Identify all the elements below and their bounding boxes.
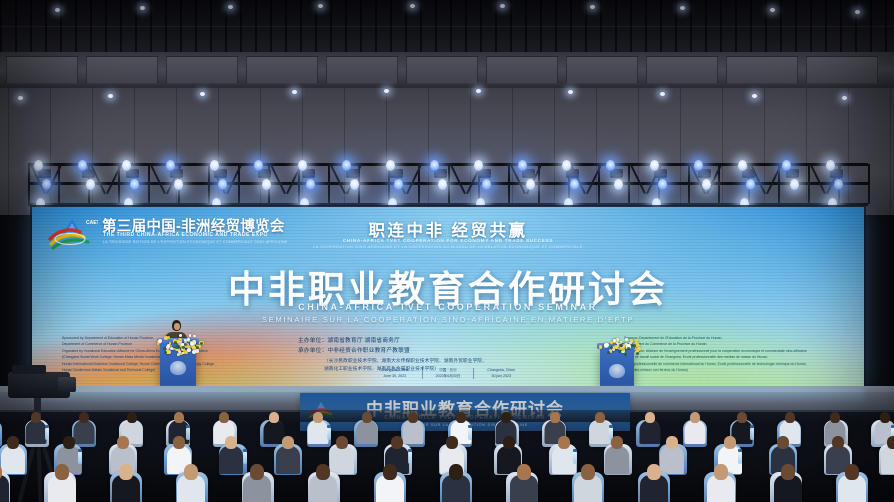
person-torso <box>357 420 378 444</box>
flower-leaf <box>619 344 622 347</box>
lighting-truss <box>28 160 868 208</box>
person-head <box>7 436 19 449</box>
audience-person <box>111 436 135 464</box>
person-head <box>558 436 570 449</box>
audience-person <box>1 436 25 464</box>
ceiling-downlight <box>140 6 145 10</box>
truss-lamp <box>298 160 307 171</box>
audience-person <box>330 436 354 464</box>
event-slogan-fr: LA COOPERATION SINO-AFRICAINE ET LA COOP… <box>32 245 864 249</box>
truss-lamp <box>34 160 43 171</box>
truss-lamp <box>658 179 667 190</box>
truss-post <box>508 164 510 204</box>
truss-diagonal <box>810 165 825 194</box>
person-head <box>777 436 789 449</box>
audience-person <box>881 436 894 464</box>
truss-post <box>448 164 450 204</box>
date-value: 2023年6月30日 <box>436 373 461 379</box>
truss-lamp <box>606 160 615 171</box>
water-bottle <box>738 452 742 464</box>
person-head <box>63 436 75 449</box>
bottle-cap <box>327 425 331 428</box>
person-head <box>362 412 372 423</box>
podium-left-emblem-icon <box>170 361 186 375</box>
person-head <box>517 464 531 480</box>
person-head <box>456 412 466 423</box>
truss-lamp <box>130 179 139 190</box>
audience-person <box>779 412 800 436</box>
person-head <box>724 436 736 449</box>
audience-person <box>640 412 661 436</box>
audience-person <box>826 436 850 464</box>
person-head <box>449 464 463 480</box>
bottle-cap <box>45 425 49 428</box>
ceiling-downlight <box>318 4 323 8</box>
audience-person <box>590 412 611 436</box>
truss-lamp <box>430 160 439 171</box>
person-head <box>174 412 184 423</box>
ceiling-downlight <box>384 89 389 93</box>
person-head <box>781 464 795 480</box>
bottle-cap <box>609 425 613 428</box>
person-head <box>714 464 728 480</box>
flower-leaf <box>200 342 203 345</box>
flower-petal <box>157 343 159 345</box>
person-torso <box>640 420 661 444</box>
truss-lamp <box>526 179 535 190</box>
audience-person <box>213 412 234 436</box>
person-head <box>119 464 133 480</box>
host-line: 主办单位：湖南省教育厅 湖南省商务厅 <box>298 337 598 347</box>
person-torso <box>881 446 894 474</box>
audience-person <box>707 464 735 496</box>
truss-lamp <box>702 179 711 190</box>
flower-leaf <box>627 347 630 350</box>
flower-petal <box>604 343 608 347</box>
person-head <box>127 412 137 423</box>
speaker-face <box>174 323 180 330</box>
person-head <box>79 412 89 423</box>
flower-petal <box>625 338 628 341</box>
ceiling-downlight <box>855 10 860 14</box>
person-head <box>313 412 323 423</box>
person-head <box>690 412 700 423</box>
flower-petal <box>158 339 162 343</box>
truss-lamp <box>78 160 87 171</box>
date-value: June 30, 2023 <box>381 373 409 379</box>
audience-person <box>731 412 752 436</box>
ceiling-downlight <box>292 90 297 94</box>
person-head <box>887 436 894 449</box>
audience-area <box>0 392 894 502</box>
flower-petal <box>599 345 602 348</box>
audience-person <box>497 436 521 464</box>
truss-post <box>868 164 870 204</box>
truss-lamp <box>394 179 403 190</box>
ceiling-downlight <box>680 6 685 10</box>
flower-petal <box>170 347 173 350</box>
audience-person <box>385 436 409 464</box>
audience-person <box>640 464 668 496</box>
person-head <box>845 464 859 480</box>
ceiling-downlight <box>228 5 233 9</box>
water-bottle <box>468 428 472 440</box>
bottle-cap <box>78 449 82 452</box>
audience-person <box>74 412 95 436</box>
audience-person <box>660 436 684 464</box>
bottle-cap <box>738 449 742 452</box>
truss-lamp <box>694 160 703 171</box>
truss-lamp <box>834 179 843 190</box>
audience-person <box>26 412 47 436</box>
water-bottle <box>408 452 412 464</box>
organizer-line: 承办单位：中非经贸合作职业教育产教联盟 <box>298 347 598 357</box>
conference-hall-scene: CAETE 第三届中国-非洲经贸博览会 THE THIRD CHINA-AFRI… <box>0 0 894 502</box>
truss-lamp <box>562 160 571 171</box>
truss-lamp <box>342 160 351 171</box>
person-head <box>880 412 890 423</box>
truss-lamp <box>210 160 219 171</box>
person-torso <box>307 420 328 444</box>
water-bottle <box>243 452 247 464</box>
audience-person <box>496 412 517 436</box>
bottle-cap <box>408 449 412 452</box>
truss-lamp <box>86 179 95 190</box>
date-cell-en: Changsha, China June 30, 2023 <box>381 367 409 379</box>
audience-person <box>243 464 271 496</box>
podium-right-flowers <box>596 336 640 354</box>
person-head <box>595 412 605 423</box>
audience-person <box>605 436 629 464</box>
person-torso <box>685 420 706 444</box>
ceiling-downlight <box>590 5 595 9</box>
audience-person <box>309 464 337 496</box>
person-head <box>391 436 403 449</box>
person-head <box>503 436 515 449</box>
truss-lamp <box>614 179 623 190</box>
flower-petal <box>164 336 168 340</box>
date-divider <box>422 368 423 379</box>
truss-lamp <box>826 160 835 171</box>
ceiling-downlight <box>108 94 113 98</box>
truss-lamp <box>218 179 227 190</box>
truss-lamp <box>438 179 447 190</box>
bottle-cap <box>750 425 754 428</box>
flower-petal <box>182 352 184 354</box>
truss-lamp <box>474 160 483 171</box>
person-torso <box>26 420 47 444</box>
truss-lamp <box>782 160 791 171</box>
person-head <box>250 464 264 480</box>
truss-lamp <box>482 179 491 190</box>
truss-lamp <box>262 179 271 190</box>
person-head <box>55 464 69 480</box>
bottle-cap <box>186 425 190 428</box>
person-head <box>173 436 185 449</box>
audience-person <box>774 464 802 496</box>
ceiling-downlight <box>18 96 23 100</box>
ceiling-downlight <box>568 90 573 94</box>
event-slogan-en: CHINA-AFRICA TVET COOPERATION FOR ECONOM… <box>32 238 864 243</box>
audience-person <box>167 436 191 464</box>
audience-person <box>838 464 866 496</box>
seminar-title-fr: SEMINAIRE SUR LA COOPERATION SINO-AFRICA… <box>32 315 864 324</box>
flower-petal <box>187 348 191 352</box>
person-head <box>219 412 229 423</box>
person-head <box>785 412 795 423</box>
person-torso <box>276 446 300 474</box>
date-cell-fr: Changsha, Chine 30 juin 2023 <box>487 367 515 379</box>
date-value: 30 juin 2023 <box>487 373 515 379</box>
audience-person <box>685 412 706 436</box>
flower-petal <box>193 335 195 337</box>
audience-person <box>307 412 328 436</box>
truss-lamp <box>350 179 359 190</box>
truss-post <box>28 164 30 204</box>
audience-person <box>276 436 300 464</box>
truss-diagonal <box>150 165 165 194</box>
water-bottle <box>45 428 49 440</box>
flower-petal <box>630 339 633 342</box>
truss-lamp <box>738 160 747 171</box>
person-head <box>832 436 844 449</box>
person-head <box>31 412 41 423</box>
truss-post <box>688 164 690 204</box>
audience-person <box>112 464 140 496</box>
audience-person <box>771 436 795 464</box>
organizer-sub-line: （长沙民政职业技术学院、湖南大众传媒职业技术学院、湖南外贸职业学院、 <box>298 357 598 365</box>
person-head <box>501 412 511 423</box>
audience-person <box>402 412 423 436</box>
person-head <box>225 436 237 449</box>
truss-post <box>148 164 150 204</box>
camera-lens-icon <box>58 377 76 392</box>
ceiling-downlight <box>55 8 60 12</box>
seminar-title-en: CHINA-AFRICA TVET COOPERATION SEMINAR <box>32 302 864 312</box>
audience-person <box>48 464 76 496</box>
truss-diagonal <box>450 165 465 194</box>
podium-left-flowers <box>155 333 205 353</box>
led-backdrop-screen: CAETE 第三届中国-非洲经贸博览会 THE THIRD CHINA-AFRI… <box>32 207 864 390</box>
audience-person <box>440 436 464 464</box>
water-bottle <box>750 428 754 440</box>
camera-sunshade <box>12 365 46 374</box>
person-head <box>647 464 661 480</box>
person-head <box>282 436 294 449</box>
flower-petal <box>189 334 192 337</box>
audience-person <box>824 412 845 436</box>
ceiling-downlight <box>410 4 415 8</box>
person-head <box>446 436 458 449</box>
person-head <box>611 436 623 449</box>
person-head <box>336 436 348 449</box>
truss-lamp <box>650 160 659 171</box>
truss-lamp <box>790 179 799 190</box>
audience-person <box>442 464 470 496</box>
person-head <box>737 412 747 423</box>
truss-lamp <box>174 179 183 190</box>
flower-leaf <box>607 351 610 354</box>
person-head <box>184 464 198 480</box>
truss-lamp <box>42 179 51 190</box>
date-location-strip: Changsha, China June 30, 2023 中国 · 长沙 20… <box>32 367 864 379</box>
person-head <box>666 436 678 449</box>
truss-lamp <box>518 160 527 171</box>
flower-petal <box>179 334 182 337</box>
bottle-cap <box>243 449 247 452</box>
audience-person <box>122 412 143 436</box>
person-torso <box>0 475 9 502</box>
person-torso <box>605 446 629 474</box>
truss-lamp <box>166 160 175 171</box>
person-head <box>645 412 655 423</box>
ceiling-downlight <box>752 94 757 98</box>
ceiling-downlight <box>476 89 481 93</box>
audience-person <box>219 436 243 464</box>
ceiling-downlight <box>842 96 847 100</box>
date-cell-cn: 中国 · 长沙 2023年6月30日 <box>436 367 461 379</box>
person-head <box>830 412 840 423</box>
audience-person <box>545 412 566 436</box>
person-head <box>581 464 595 480</box>
audience-person <box>357 412 378 436</box>
flower-leaf <box>618 350 621 353</box>
truss-diagonal <box>270 165 285 194</box>
date-divider <box>473 368 474 379</box>
audience-person <box>263 412 284 436</box>
person-head <box>550 412 560 423</box>
audience-person <box>0 464 9 496</box>
truss-post <box>628 164 630 204</box>
ceiling-downlight <box>660 92 665 96</box>
audience-person <box>510 464 538 496</box>
audience-person <box>376 464 404 496</box>
truss-lamp <box>746 179 755 190</box>
person-torso <box>219 446 243 474</box>
water-bottle <box>78 452 82 464</box>
bottle-cap <box>573 449 577 452</box>
flower-petal <box>613 339 616 342</box>
truss-lamp <box>386 160 395 171</box>
person-head <box>408 412 418 423</box>
bottle-cap <box>468 425 472 428</box>
audience-person <box>574 464 602 496</box>
truss-lamp <box>122 160 131 171</box>
truss-lamp <box>254 160 263 171</box>
ceiling-downlight <box>770 8 775 12</box>
flower-leaf <box>163 347 166 350</box>
person-head <box>383 464 397 480</box>
truss-lamp <box>570 179 579 190</box>
truss-post <box>208 164 210 204</box>
person-head <box>316 464 330 480</box>
podium-right-emblem-icon <box>609 364 625 378</box>
truss-post <box>808 164 810 204</box>
truss-lamp <box>306 179 315 190</box>
audience-person <box>177 464 205 496</box>
person-head <box>269 412 279 423</box>
podium-right-body <box>600 348 634 388</box>
truss-diagonal <box>630 165 645 194</box>
truss-post <box>328 164 330 204</box>
person-head <box>117 436 129 449</box>
flower-leaf <box>196 346 199 349</box>
ceiling-downlight <box>200 92 205 96</box>
water-bottle <box>573 452 577 464</box>
ceiling-downlight <box>500 4 505 8</box>
